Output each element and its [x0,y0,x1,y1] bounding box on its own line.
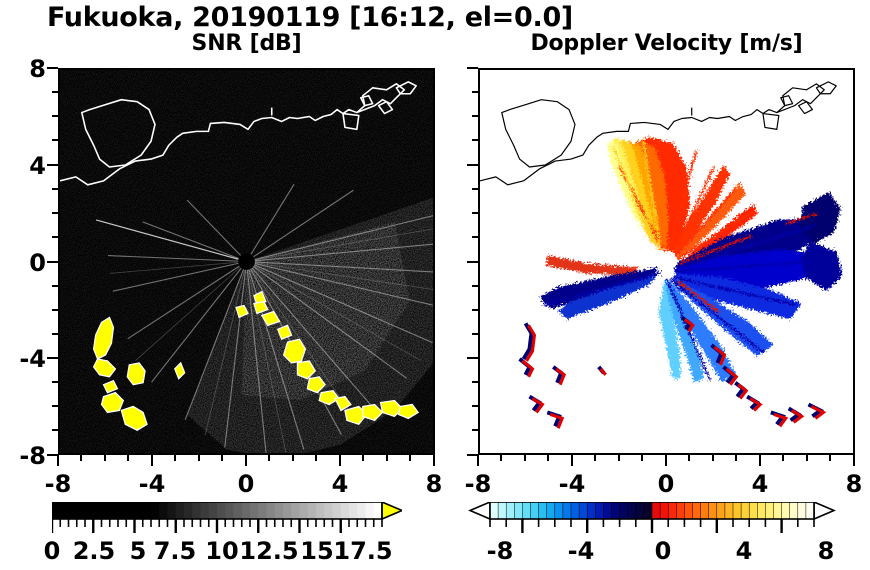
doppler-colorbar-over-arrow [814,502,834,519]
radar-figure: Fukuoka, 20190119 [16:12, el=0.0] SNR [d… [0,0,870,570]
doppler-colorbar[interactable] [468,502,836,534]
snr-plot-canvas [60,70,433,453]
doppler-colorbar-under-arrow [470,502,490,519]
doppler-xtick-neg4: -4 [542,470,602,498]
snr-colorbar-svg [52,502,402,534]
doppler-xtick-4: 4 [730,470,790,498]
doppler-panel-title: Doppler Velocity [m/s] [478,31,855,56]
snr-colorbar-cells [52,502,382,519]
doppler-xtick-0: 0 [636,470,696,498]
doppler-xtick-neg8: -8 [448,470,508,498]
doppler-colorbar-cells [490,502,814,519]
doppler-data-layer [480,70,853,453]
doppler-cbtick-4: 4 [714,537,774,565]
snr-ytick-8: 8 [0,55,46,83]
snr-ppi-plot[interactable] [58,68,435,455]
snr-cbtick-17p5: 17.5 [327,537,399,565]
doppler-cbtick-neg8: -8 [470,537,530,565]
snr-cbtick-2p5: 2.5 [64,537,124,565]
doppler-colorbar-svg [468,502,836,534]
doppler-plot-canvas [480,70,853,453]
snr-xtick-0: 0 [216,470,276,498]
doppler-cbtick-8: 8 [796,537,856,565]
snr-ytick-0: 0 [0,249,46,277]
snr-panel-title: SNR [dB] [58,31,435,56]
doppler-colorbar-ticks [490,519,814,533]
snr-ytick-neg4: -4 [0,345,46,373]
doppler-cbtick-0: 0 [633,537,693,565]
doppler-radar-origin [656,251,678,273]
snr-colorbar[interactable] [52,502,402,534]
doppler-xtick-8: 8 [824,470,870,498]
snr-colorbar-over-arrow [382,502,402,519]
snr-xtick-neg8: -8 [28,470,88,498]
snr-xtick-neg4: -4 [122,470,182,498]
snr-data-layer [60,70,433,453]
snr-ytick-4: 4 [0,152,46,180]
snr-ytick-neg8: -8 [0,442,46,470]
snr-xtick-4: 4 [310,470,370,498]
doppler-cbtick-neg4: -4 [551,537,611,565]
snr-colorbar-ticks [52,519,382,533]
doppler-ppi-plot[interactable] [478,68,855,455]
figure-suptitle: Fukuoka, 20190119 [16:12, el=0.0] [0,2,620,33]
snr-radar-origin [238,253,255,270]
